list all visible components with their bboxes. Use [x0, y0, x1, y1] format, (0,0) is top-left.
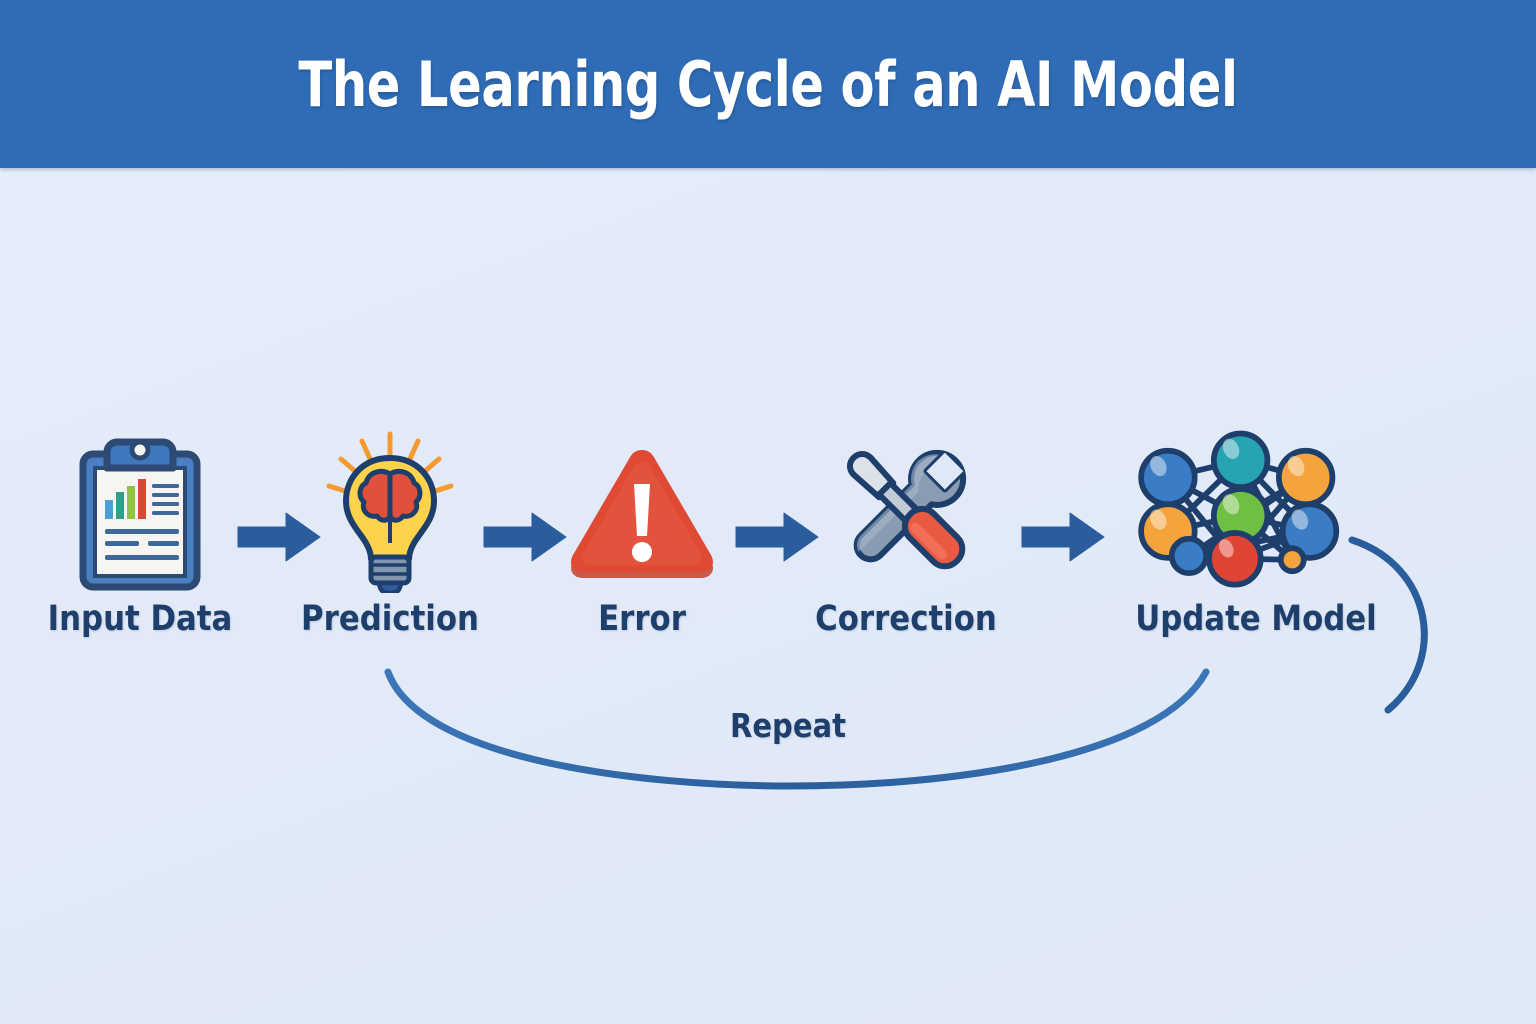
- step-label-correction: Correction: [809, 599, 1003, 639]
- step-label-error: Error: [545, 599, 739, 639]
- step-label-input-data: Input Data: [43, 599, 237, 639]
- warning-triangle-icon: [532, 428, 752, 593]
- neural-network-icon: [1122, 428, 1342, 593]
- lightbulb-brain-icon: [280, 428, 500, 593]
- flow-step-prediction[interactable]: Prediction: [280, 428, 500, 639]
- flow-step-input-data[interactable]: Input Data: [30, 428, 250, 639]
- flow-step-error[interactable]: Error: [532, 428, 752, 639]
- flow-step-correction[interactable]: Correction: [796, 428, 1016, 639]
- right-arrow-icon-4: [1020, 509, 1106, 565]
- flow-step-update-model[interactable]: Update Model: [1122, 428, 1342, 639]
- step-label-update-model: Update Model: [1135, 599, 1329, 639]
- wrench-screwdriver-icon: [796, 428, 1016, 593]
- repeat-label: Repeat: [700, 706, 876, 745]
- infographic-canvas: The Learning Cycle of an AI Model Repeat: [0, 0, 1536, 1024]
- step-label-prediction: Prediction: [293, 599, 487, 639]
- clipboard-chart-icon: [30, 428, 250, 593]
